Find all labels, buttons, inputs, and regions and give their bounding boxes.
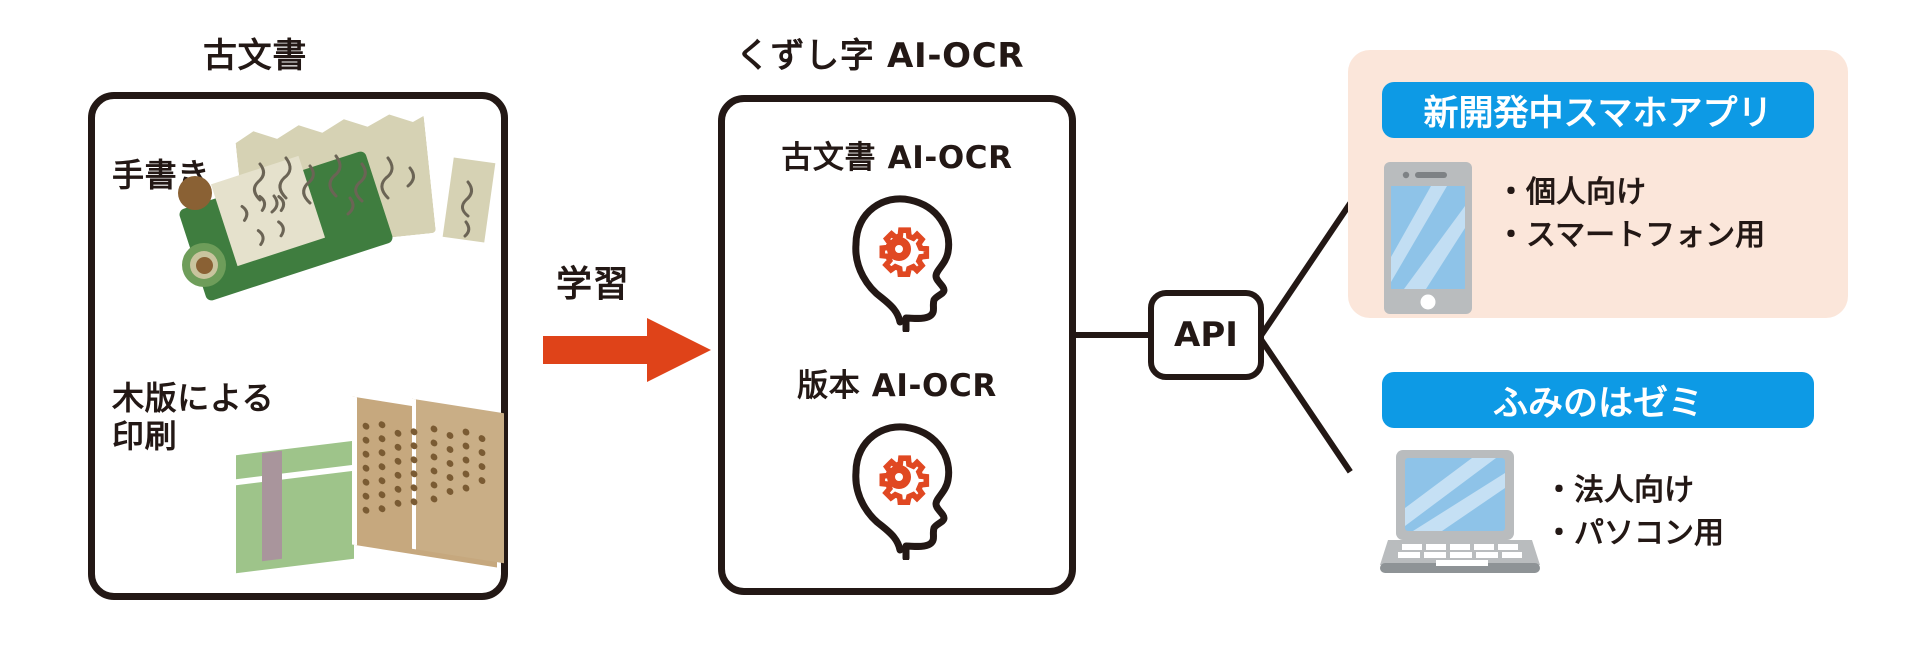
right-arrow-icon xyxy=(543,318,711,382)
center-section-title: くずし字 AI-OCR xyxy=(700,28,1060,77)
zemi-bullet-list: ・法人向け ・パソコン用 xyxy=(1544,470,1724,555)
app-bullet-2: ・スマートフォン用 xyxy=(1496,215,1765,258)
zemi-bullet-2: ・パソコン用 xyxy=(1544,513,1724,556)
book-title-band xyxy=(262,451,282,561)
learning-arrow-label: 学習 xyxy=(556,255,629,307)
scroll-knob-inner xyxy=(196,257,213,274)
api-node: API xyxy=(1148,290,1264,380)
woodblock-print-label: 木版による 印刷 xyxy=(112,380,274,456)
woodblock-print-label-line1: 木版による xyxy=(112,380,274,418)
diagram-canvas: 古文書 手書き 木版による 印刷 xyxy=(0,0,1920,648)
app-bullet-1: ・個人向け xyxy=(1496,172,1765,215)
connector-api-to-app xyxy=(1256,202,1353,342)
scroll-inner-strokes xyxy=(228,176,328,264)
zemi-bullet-1: ・法人向け xyxy=(1544,470,1724,513)
engine-label-hanpon: 版本 AI-OCR xyxy=(718,360,1076,405)
badge-smartphone-app: 新開発中スマホアプリ xyxy=(1382,82,1814,138)
small-paper-strokes xyxy=(452,170,492,240)
api-label: API xyxy=(1174,315,1238,355)
smartphone-icon xyxy=(1384,162,1472,314)
engine-label-komonjo: 古文書 AI-OCR xyxy=(718,132,1076,177)
woodblock-print-label-line2: 印刷 xyxy=(112,418,274,456)
app-bullet-list: ・個人向け ・スマートフォン用 xyxy=(1496,172,1765,257)
connector-center-to-api xyxy=(1076,332,1150,338)
scroll-cap-top xyxy=(178,176,212,210)
connector-api-to-zemi xyxy=(1256,333,1353,473)
left-section-title: 古文書 xyxy=(0,28,510,77)
book-text-dots xyxy=(352,406,502,561)
badge-fuminoha-zemi: ふみのはゼミ xyxy=(1382,372,1814,428)
head-gear-icon xyxy=(822,182,972,332)
book-cover-left xyxy=(236,441,354,573)
head-gear-icon xyxy=(822,410,972,560)
laptop-icon xyxy=(1380,450,1540,576)
